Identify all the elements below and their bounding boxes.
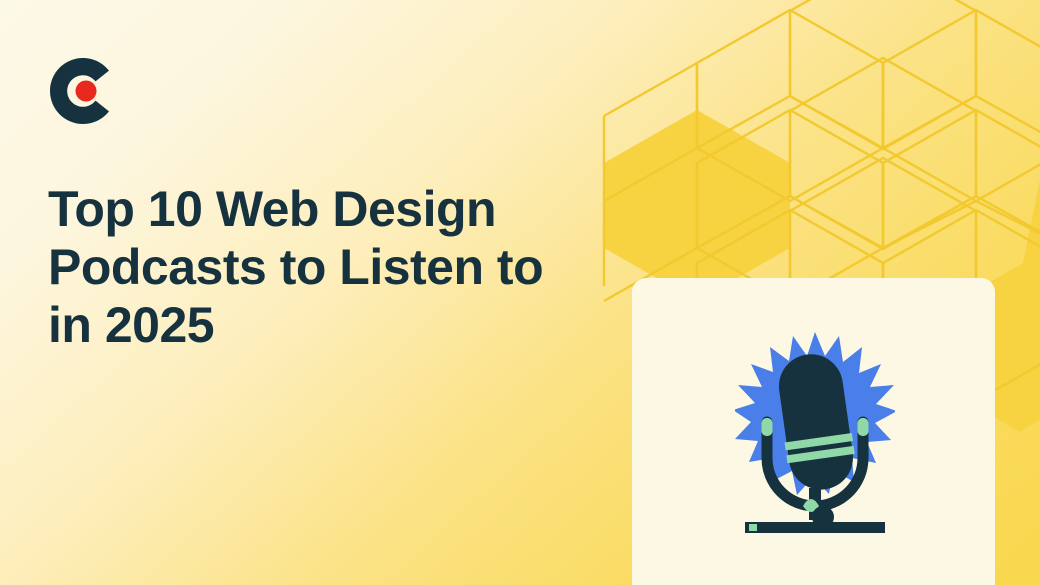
yoke-tip-right [858,418,869,436]
letter-c-logo-icon [48,56,118,126]
hero-banner: Top 10 Web Design Podcasts to Listen to … [0,0,1040,585]
logo-red-dot [76,81,97,102]
brand-logo[interactable] [48,56,118,126]
podcast-microphone-illustration [735,330,895,545]
mic-base-bar [745,522,885,533]
hexagon-solid-upper [604,110,790,301]
yoke-tip-left [762,418,773,436]
base-accent-square [749,524,757,531]
page-title: Top 10 Web Design Podcasts to Listen to … [48,180,628,354]
